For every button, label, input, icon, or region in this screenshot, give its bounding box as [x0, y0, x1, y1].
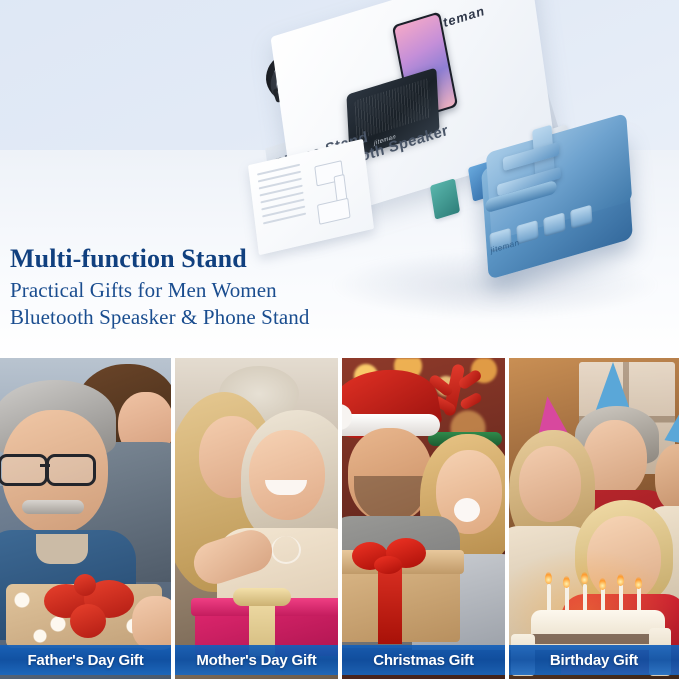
gallery-panel-mothers-day[interactable]: Mother's Day Gift — [175, 358, 338, 679]
swatch-teal — [430, 178, 460, 220]
gallery-panel-christmas[interactable]: Christmas Gift — [342, 358, 505, 679]
caption-bar-mothers-day: Mother's Day Gift — [175, 645, 338, 675]
gift-occasion-gallery: Father's Day Gift Mother's Day Gift — [0, 358, 679, 679]
scene-mothers-day — [175, 358, 338, 679]
page-title: Multi-function Stand — [10, 244, 530, 273]
caption-bar-fathers-day: Father's Day Gift — [0, 645, 171, 675]
headline-subtitle-1: Practical Gifts for Men Women — [10, 277, 530, 303]
caption-bar-christmas: Christmas Gift — [342, 645, 505, 675]
headline-subtitle-2: Bluetooth Speasker & Phone Stand — [10, 304, 530, 330]
caption-label: Mother's Day Gift — [196, 652, 316, 669]
caption-label: Father's Day Gift — [27, 652, 143, 669]
scene-christmas — [342, 358, 505, 679]
scene-fathers-day — [0, 358, 171, 679]
caption-bar-birthday: Birthday Gift — [509, 645, 679, 675]
headline-block: Multi-function Stand Practical Gifts for… — [10, 244, 530, 330]
gallery-panel-fathers-day[interactable]: Father's Day Gift — [0, 358, 171, 679]
caption-label: Christmas Gift — [373, 652, 474, 669]
caption-label: Birthday Gift — [550, 652, 638, 669]
product-infographic: jiteman jiteman Phone Stand with Bluetoo… — [0, 0, 679, 679]
hero-section: jiteman jiteman Phone Stand with Bluetoo… — [0, 0, 679, 358]
manual-diagrams — [310, 157, 362, 225]
manual-text-lines — [257, 164, 307, 230]
scene-birthday — [509, 358, 679, 679]
gallery-panel-birthday[interactable]: Birthday Gift — [509, 358, 679, 679]
